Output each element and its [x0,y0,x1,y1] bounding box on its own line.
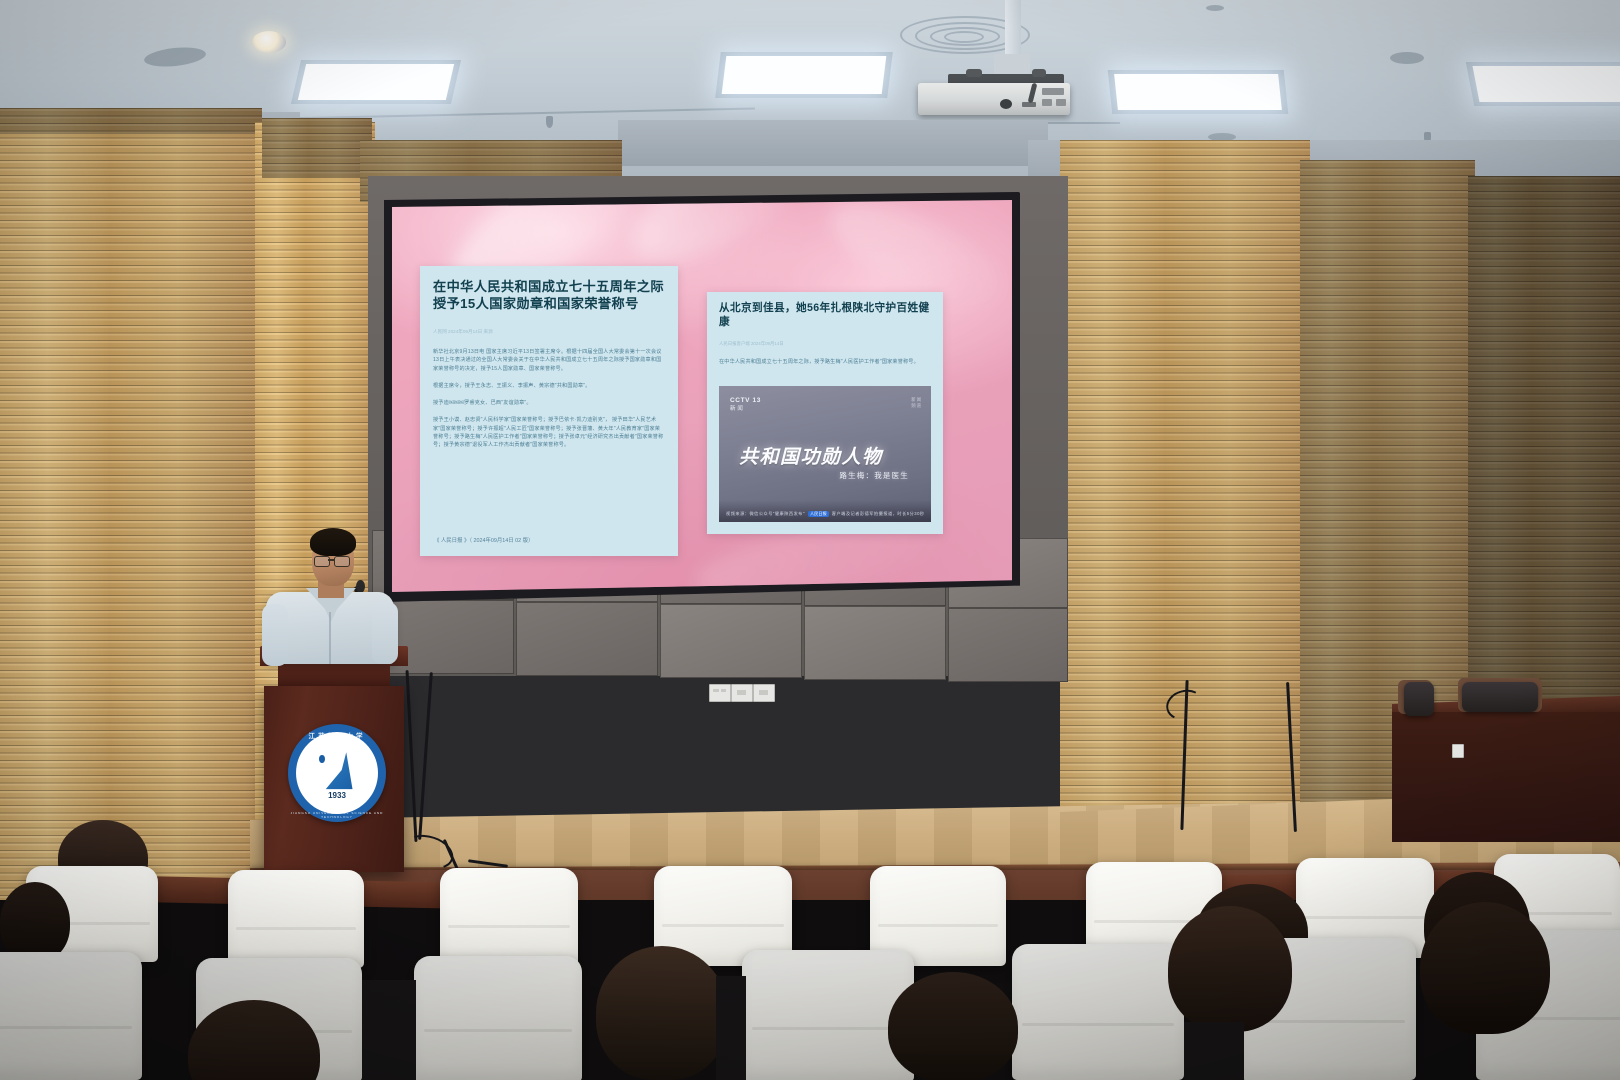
podium-neck [278,664,390,688]
eyeglasses-bridge-icon [328,559,334,561]
socket-slot [721,689,726,692]
floor-cable [406,670,418,842]
audience-seat[interactable] [742,950,914,1080]
projector-port [1056,99,1066,106]
projection-screen: 在中华人民共和国成立七十五周年之际授予15人国家勋章和国家荣誉称号 人民网 20… [392,200,1012,592]
seat-gap-shadow [1184,1022,1244,1080]
auditorium-photo: 在中华人民共和国成立七十五周年之际授予15人国家勋章和国家荣誉称号 人民网 20… [0,0,1620,1080]
video-subtitle: 路生梅：我是医生 [839,470,909,481]
projector-lens [1000,99,1012,109]
video-bar-chip: 人民日报 [808,511,829,517]
left-article-paragraph: 新华社北京9月13日电 国家主席习近平13日签署主席令。根据十四届全国人大常委会… [433,348,665,373]
cctv-logo: CCTV 13 新闻 [730,397,761,412]
slide-left-article-card: 在中华人民共和国成立七十五周年之际授予15人国家勋章和国家荣誉称号 人民网 20… [420,266,678,556]
socket-slot [737,690,746,695]
audience-seat[interactable] [1012,944,1184,1080]
video-watermark: 新闻频道 [911,397,922,408]
audience-person [0,882,70,962]
video-bar-left: 视频来源：微信公众号"健康陕西发布" [726,511,805,517]
emblem-center: 1933 [305,741,370,806]
acoustic-panel [660,604,802,678]
left-article-meta: 人民网 2024年09月14日 来源 [433,329,633,335]
stage-table-socket[interactable] [1452,744,1464,758]
left-article-headline: 在中华人民共和国成立七十五周年之际授予15人国家勋章和国家荣誉称号 [433,278,665,313]
right-article-meta: 人民日报客户端 2024年09月14日 [719,341,899,347]
stage-chair [1462,682,1538,712]
wall-socket-panel[interactable] [709,684,731,702]
cctv-channel: CCTV 13 [730,397,761,404]
led-panel-light [1473,66,1620,102]
audience-person [596,946,728,1080]
left-article-body: 新华社北京9月13日电 国家主席习近平13日签署主席令。根据十四届全国人大常委会… [433,348,665,449]
seat-gap-shadow [362,980,416,1080]
socket-slot [759,690,768,695]
emblem-year: 1933 [305,791,370,800]
speaker-arm-left [262,604,288,666]
audience-person [888,972,1018,1080]
ceiling-vent [1206,5,1224,11]
led-panel-light [298,64,454,100]
right-article-body: 在中华人民共和国成立七十五周年之际，授予路生梅"人民医护工作者"国家荣誉称号。 [719,358,931,366]
acoustic-panel [948,608,1068,682]
downlight [252,31,286,53]
audience-seat[interactable] [0,952,142,1080]
stage-chair [1404,682,1434,716]
sail-icon [324,752,352,792]
left-article-paragraph: 根据主席令，授予王永志、王振义、李振声、黄宗德"共和国勋章"。 [433,382,665,390]
video-title: 共和国功勋人物 [739,442,883,469]
video-bar-right: 客户端及记者彭德军拍摄报道，时长5分30秒 [832,511,925,517]
emblem-dot-icon [319,755,325,763]
audience-seat[interactable] [228,870,364,968]
ceiling-bulkhead [618,120,1048,166]
right-article-headline: 从北京到佳县，她56年扎根陕北守护百姓健康 [719,302,931,330]
wall-socket-panel[interactable] [753,684,775,702]
wood-slat-wall-left-upper [0,108,262,134]
led-panel-light [1114,74,1282,110]
wood-slat-wall-center-left [262,118,372,178]
slide-video-thumbnail[interactable]: CCTV 13 新闻 新闻频道 共和国功勋人物 路生梅：我是医生 视频来源：微信… [719,386,931,522]
ceiling-speaker-ring [944,31,984,43]
projector-mount [994,54,1030,76]
sprinkler-head [546,116,553,128]
cctv-channel-sub: 新闻 [730,404,761,412]
acoustic-panel [516,602,658,676]
stage-table-front [1392,712,1620,842]
projector-port [1042,99,1052,106]
speaker-arm-right [372,602,398,664]
eyeglasses-icon [334,556,350,567]
led-panel-light [722,56,887,94]
audience-seat[interactable] [414,956,582,1080]
projector-port [1042,88,1064,95]
speaker-hair [310,528,356,556]
projector-port [1022,102,1036,107]
projector-pole [1005,0,1021,58]
audience-seat[interactable] [440,868,578,966]
wall-socket-panel[interactable] [731,684,753,702]
acoustic-panel [804,606,946,680]
ceiling-vent [1390,52,1424,64]
projector-knob [1032,69,1046,77]
left-article-paragraph: 授予王小谟、赵忠贤"人民科学家"国家荣誉称号；授予巴依卡·凯力迪别克"， 授予田… [433,416,665,449]
audience-person [1168,906,1292,1032]
university-emblem: 江苏科技大学 JIANGSU UNIVERSITY OF SCIENCE AND… [288,724,386,822]
socket-slot [713,689,719,692]
slide-right-article-card: 从北京到佳县，她56年扎根陕北守护百姓健康 人民日报客户端 2024年09月14… [707,292,943,534]
audience-person [1420,902,1550,1034]
seat-gap-shadow [716,976,746,1080]
left-article-footer: 《 人民日报 》（ 2024年09月14日 02 版） [434,536,533,544]
left-article-paragraph: 授予迪￼￼￼罗睿克女、巴西"友谊勋章"。 [433,399,665,407]
projector-knob [966,69,982,77]
speaker-shirt-placket [329,612,331,664]
video-caption-bar: 视频来源：微信公众号"健康陕西发布" 人民日报 客户端及记者彭德军拍摄报道，时长… [719,500,931,522]
eyeglasses-icon [314,556,330,567]
floor-cable [418,672,433,840]
